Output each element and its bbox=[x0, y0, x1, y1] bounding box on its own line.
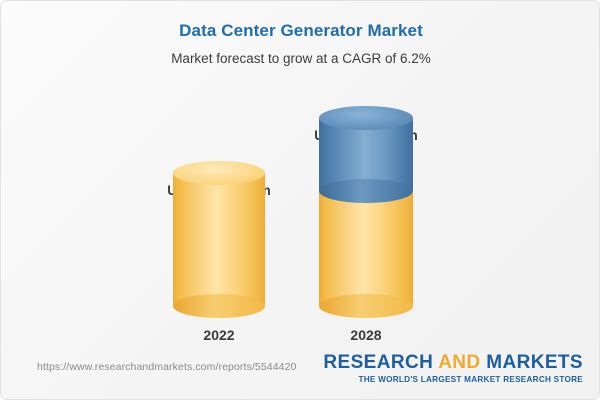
logo-word-and: AND bbox=[438, 352, 480, 373]
cylinder-bottom-cap bbox=[173, 294, 265, 318]
cylinder-2028[interactable] bbox=[319, 118, 413, 306]
logo-tagline: THE WORLD'S LARGEST MARKET RESEARCH STOR… bbox=[323, 375, 583, 384]
cylinder-segment-divider bbox=[319, 179, 413, 203]
chart-footer: https://www.researchandmarkets.com/repor… bbox=[1, 347, 600, 399]
chart-plot-area: USD 4.96 Billion 2022 USD 7.13 Billion bbox=[1, 81, 600, 346]
cylinder-segment-base-2022 bbox=[173, 173, 265, 306]
cylinder-body bbox=[319, 191, 413, 306]
logo-word-research: RESEARCH bbox=[323, 352, 433, 373]
cylinder-segment-growth-2028 bbox=[319, 118, 413, 191]
cylinder-segment-base-2028 bbox=[319, 191, 413, 306]
x-axis-tick-2022: 2022 bbox=[203, 327, 234, 343]
cylinder-top-cap bbox=[319, 106, 413, 130]
cylinder-body bbox=[173, 173, 265, 306]
chart-subtitle: Market forecast to grow at a CAGR of 6.2… bbox=[1, 41, 600, 66]
page-title: Data Center Generator Market bbox=[1, 1, 600, 41]
chart-card: Data Center Generator Market Market fore… bbox=[0, 0, 600, 400]
cylinder-top-cap bbox=[173, 161, 265, 185]
cylinder-2022[interactable] bbox=[173, 173, 265, 306]
cylinder-bottom-cap bbox=[319, 294, 413, 318]
source-url-link[interactable]: https://www.researchandmarkets.com/repor… bbox=[37, 361, 296, 373]
x-axis-tick-2028: 2028 bbox=[350, 327, 381, 343]
logo-wordmark: RESEARCH AND MARKETS bbox=[323, 353, 583, 373]
logo-word-markets: MARKETS bbox=[486, 352, 583, 373]
research-and-markets-logo[interactable]: RESEARCH AND MARKETS THE WORLD'S LARGEST… bbox=[323, 353, 583, 384]
chart-header: Data Center Generator Market Market fore… bbox=[1, 1, 600, 66]
